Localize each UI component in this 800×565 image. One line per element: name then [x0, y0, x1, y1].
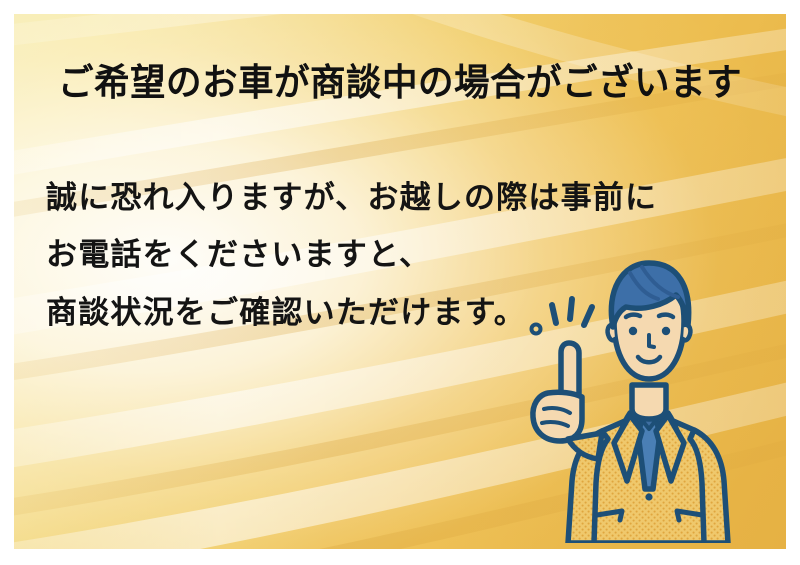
sparkle-lines — [552, 299, 592, 325]
jacket-button — [645, 493, 652, 500]
gradient-background: ご希望のお車が商談中の場合がございます 誠に恐れ入りますが、お越しの際は事前に … — [14, 14, 786, 549]
neck — [632, 385, 666, 419]
headline: ご希望のお車が商談中の場合がございます — [29, 52, 770, 106]
eyebrow-right — [659, 315, 673, 317]
eyebrow-left — [626, 315, 640, 317]
pointing-hand — [533, 343, 602, 459]
notice-banner: ご希望のお車が商談中の場合がございます 誠に恐れ入りますが、お越しの際は事前に … — [0, 0, 800, 565]
sparkle-dot — [532, 325, 541, 334]
eye-left — [629, 327, 637, 335]
businessman-illustration — [518, 243, 780, 549]
body-line-1: 誠に恐れ入りますが、お越しの際は事前に — [46, 182, 657, 215]
eye-right — [662, 327, 670, 335]
